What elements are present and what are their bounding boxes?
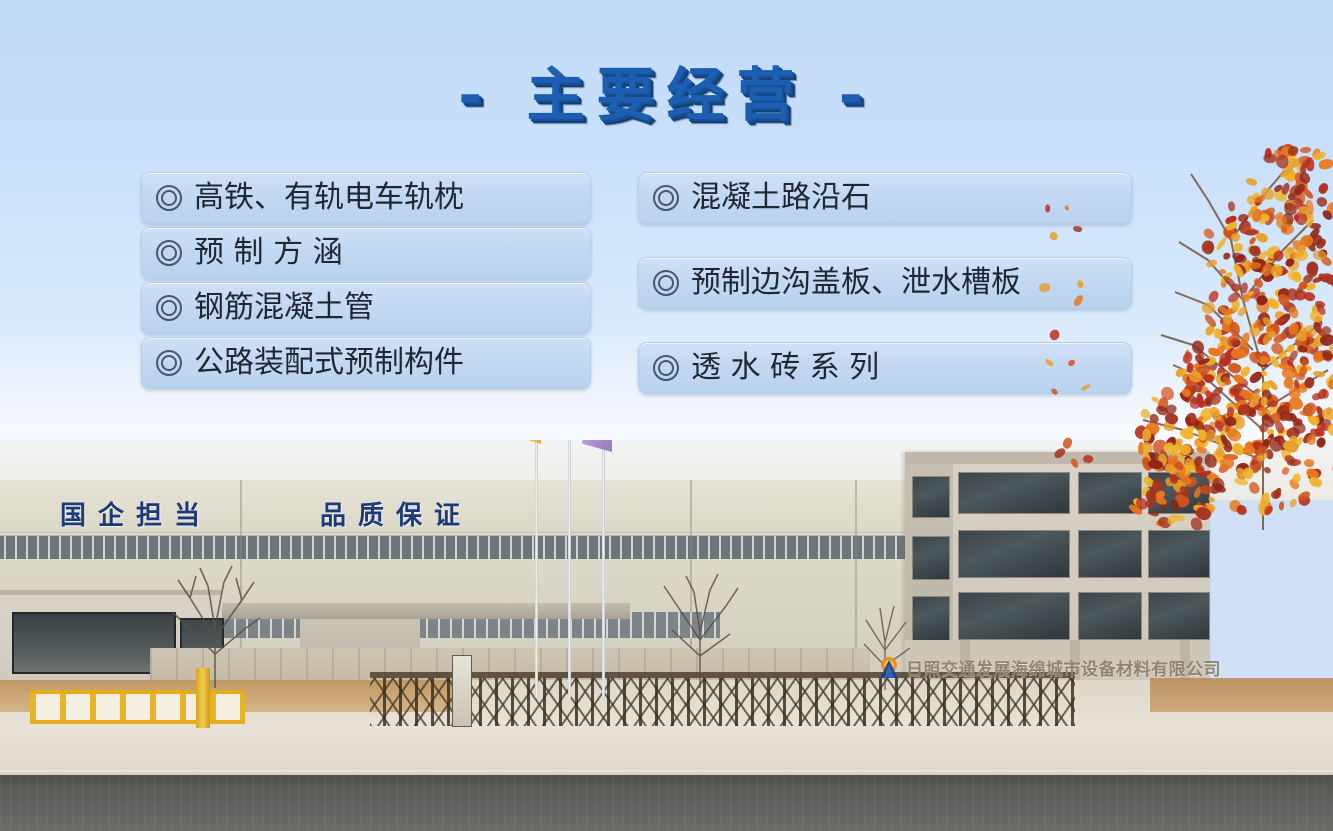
service-list-left: 高铁、有轨电车轨枕 预 制 方 涵 钢筋混凝土管 公路装配式预制构件	[141, 172, 591, 392]
office-window	[1148, 472, 1210, 514]
service-label: 公路装配式预制构件	[194, 348, 464, 378]
office-building-roof	[905, 452, 1210, 464]
service-label: 预制边沟盖板、泄水槽板	[691, 268, 1021, 298]
poster: - 主要经营 - 高铁、有轨电车轨枕 预 制 方 涵 钢筋混凝土管 公路装配式预…	[0, 0, 1333, 831]
flag-pole	[568, 440, 571, 698]
office-window	[958, 592, 1070, 640]
office-window	[1078, 530, 1142, 578]
office-window	[1078, 472, 1142, 514]
sun-mountain-logo-icon	[876, 654, 902, 680]
asphalt-texture	[0, 775, 1333, 831]
double-circle-icon	[156, 350, 182, 376]
company-sign: 日照交通发展海绵城市设备材料有限公司	[876, 652, 1276, 682]
office-window	[1148, 530, 1210, 578]
factory-photo: 国企担当 品质保证	[0, 440, 1333, 831]
dry-grass-strip	[1150, 678, 1333, 712]
service-label: 预 制 方 涵	[194, 238, 343, 268]
service-item-rail-sleeper[interactable]: 高铁、有轨电车轨枕	[141, 172, 591, 224]
double-circle-icon	[156, 185, 182, 211]
bare-tree-icon	[150, 558, 280, 688]
retractable-gate-control-box	[452, 655, 472, 727]
office-window	[912, 476, 950, 518]
flag-pole	[602, 440, 605, 698]
office-window	[912, 536, 950, 580]
building-sign-left: 国企担当	[60, 495, 212, 532]
service-label: 钢筋混凝土管	[194, 293, 374, 323]
double-circle-icon	[156, 295, 182, 321]
office-window	[958, 472, 1070, 514]
service-item-concrete-curbstone[interactable]: 混凝土路沿石	[638, 172, 1132, 224]
service-label: 混凝土路沿石	[691, 183, 871, 213]
factory-clerestory-windows	[0, 535, 940, 561]
office-window	[1078, 592, 1142, 640]
building-sign-right: 品质保证	[320, 495, 472, 532]
service-item-ditch-cover-plate[interactable]: 预制边沟盖板、泄水槽板	[638, 257, 1132, 309]
yellow-barrier	[30, 690, 245, 724]
double-circle-icon	[653, 355, 679, 381]
service-label: 高铁、有轨电车轨枕	[194, 183, 464, 213]
service-item-precast-box-culvert[interactable]: 预 制 方 涵	[141, 227, 591, 279]
company-name: 日照交通发展海绵城市设备材料有限公司	[906, 655, 1221, 680]
double-circle-icon	[653, 185, 679, 211]
service-list-right: 混凝土路沿石 预制边沟盖板、泄水槽板 透 水 砖 系 列	[638, 172, 1132, 427]
office-window	[958, 530, 1070, 578]
service-item-permeable-brick[interactable]: 透 水 砖 系 列	[638, 342, 1132, 394]
flag-pole	[535, 440, 538, 698]
office-window	[1148, 592, 1210, 640]
service-item-reinforced-concrete-pipe[interactable]: 钢筋混凝土管	[141, 282, 591, 334]
double-circle-icon	[653, 270, 679, 296]
double-circle-icon	[156, 240, 182, 266]
service-item-highway-precast-components[interactable]: 公路装配式预制构件	[141, 337, 591, 389]
bare-tree-icon	[640, 568, 760, 688]
service-label: 透 水 砖 系 列	[691, 353, 879, 383]
